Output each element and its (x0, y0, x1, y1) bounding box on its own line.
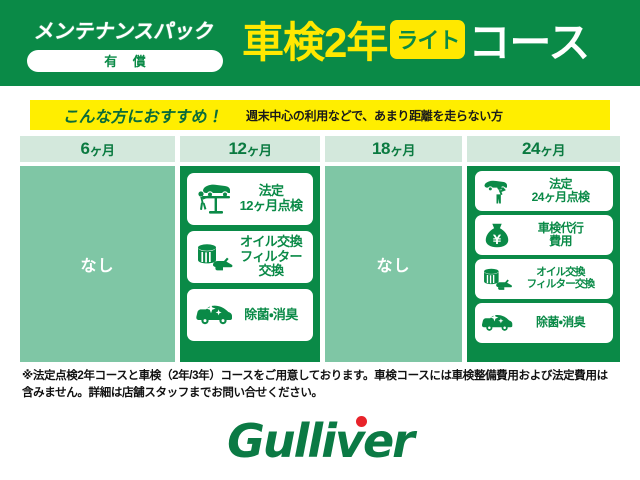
service-card: 除菌・消臭 (187, 289, 313, 341)
headline-light-badge: ライト (390, 20, 465, 59)
service-label-line1: 車検代行 (538, 221, 584, 235)
service-label-line2: フィルター (240, 249, 302, 264)
no-service-label: なし (80, 252, 114, 276)
headline-course: コース (468, 22, 589, 64)
column-body-24months: 法定 24ヶ月点検 (467, 166, 620, 362)
car-on-lift-inspection-icon (193, 179, 235, 219)
paid-badge-label: 有 償 (98, 51, 152, 70)
service-card-label: 法定 24ヶ月点検 (514, 178, 608, 205)
column-header-suffix: ヶ月 (540, 140, 565, 159)
column-header-number: 6 (81, 139, 90, 159)
service-card-label: 車検代行 費用 (514, 222, 608, 249)
column-header-6months: 6ヶ月 (20, 136, 175, 162)
paid-badge: 有 償 (27, 50, 223, 72)
service-card-label: オイル交換 フィルター 交換 (235, 235, 307, 279)
car-sanitize-icon (480, 307, 514, 339)
no-service-label: なし (376, 252, 410, 276)
column-header-suffix: ヶ月 (390, 140, 415, 159)
service-card-label: 除菌・消臭 (514, 316, 608, 329)
recommendation-detail: 週末中心の利用などで、あまり距離を走らない方 (246, 107, 503, 124)
headline-main: 車検2年 (242, 22, 387, 64)
service-label-line3: 交換 (259, 263, 284, 278)
service-label-line1: オイル交換 (240, 234, 302, 249)
service-label-line2: 費用 (549, 234, 572, 248)
column-header-suffix: ヶ月 (246, 140, 271, 159)
column-header-number: 18 (372, 139, 390, 159)
column-header-suffix: ヶ月 (89, 140, 114, 159)
maintenance-pack-banner: メンテナンスパック 有 償 車検2年 ライト コース こんな方におすすめ！ 週末… (0, 0, 640, 480)
oil-can-filter-icon (193, 237, 235, 277)
recommendation-heading: こんな方におすすめ！ (62, 103, 226, 127)
disclaimer-line-1: ※法定点検2年コースと車検（2年/3年）コースをご用意しております。車検コースに… (22, 368, 620, 385)
gulliver-logo: Gulliver (227, 414, 413, 468)
recommendation-banner: こんな方におすすめ！ 週末中心の利用などで、あまり距離を走らない方 (30, 100, 610, 130)
header-headline-block: 車検2年 ライト コース (242, 22, 640, 64)
service-schedule-table: 6ヶ月 なし 12ヶ月 (20, 136, 620, 362)
column-6months: 6ヶ月 なし (20, 136, 175, 362)
service-label-line1: 法定 (259, 183, 284, 198)
money-bag-yen-icon (480, 219, 514, 251)
pack-title: メンテナンスパック (33, 15, 217, 44)
disclaimer-line-2: 含みません。詳細は店舗スタッフまでお問い合せください。 (22, 385, 620, 402)
service-label-line2: 12ヶ月点検 (240, 198, 303, 213)
service-label-line2: フィルター交換 (527, 278, 595, 290)
column-body-12months: 法定 12ヶ月点検 (180, 166, 320, 362)
header-pack-block: メンテナンスパック 有 償 (14, 15, 236, 72)
service-label-line1: オイル交換 (536, 266, 585, 278)
column-18months: 18ヶ月 なし (325, 136, 462, 362)
service-card: オイル交換 フィルター 交換 (187, 231, 313, 283)
service-card: 車検代行 費用 (475, 215, 613, 255)
brand-logo-area: Gulliver (0, 412, 640, 470)
car-on-lift-inspection-icon (480, 175, 514, 207)
service-card: 除菌・消臭 (475, 303, 613, 343)
service-card-label: 除菌・消臭 (235, 308, 307, 323)
column-header-24months: 24ヶ月 (467, 136, 620, 162)
column-header-12months: 12ヶ月 (180, 136, 320, 162)
column-header-number: 24 (522, 139, 540, 159)
disclaimer-note: ※法定点検2年コースと車検（2年/3年）コースをご用意しております。車検コースに… (22, 368, 620, 401)
service-card: 法定 24ヶ月点検 (475, 171, 613, 211)
service-card: 法定 12ヶ月点検 (187, 173, 313, 225)
column-body-6months: なし (20, 166, 175, 362)
column-header-number: 12 (229, 139, 247, 159)
column-12months: 12ヶ月 (180, 136, 320, 362)
service-card: オイル交換 フィルター交換 (475, 259, 613, 299)
car-sanitize-icon (193, 295, 235, 335)
column-body-18months: なし (325, 166, 462, 362)
service-label-line2: 24ヶ月点検 (532, 190, 590, 204)
service-label-line1: 法定 (549, 177, 572, 191)
header-bar: メンテナンスパック 有 償 車検2年 ライト コース (0, 0, 640, 86)
service-card-label: 法定 12ヶ月点検 (235, 184, 307, 213)
oil-can-filter-icon (480, 263, 514, 295)
column-header-18months: 18ヶ月 (325, 136, 462, 162)
column-24months: 24ヶ月 (467, 136, 620, 362)
service-card-label: オイル交換 フィルター交換 (514, 267, 608, 291)
gulliver-logo-text: Gulliver (227, 414, 413, 468)
